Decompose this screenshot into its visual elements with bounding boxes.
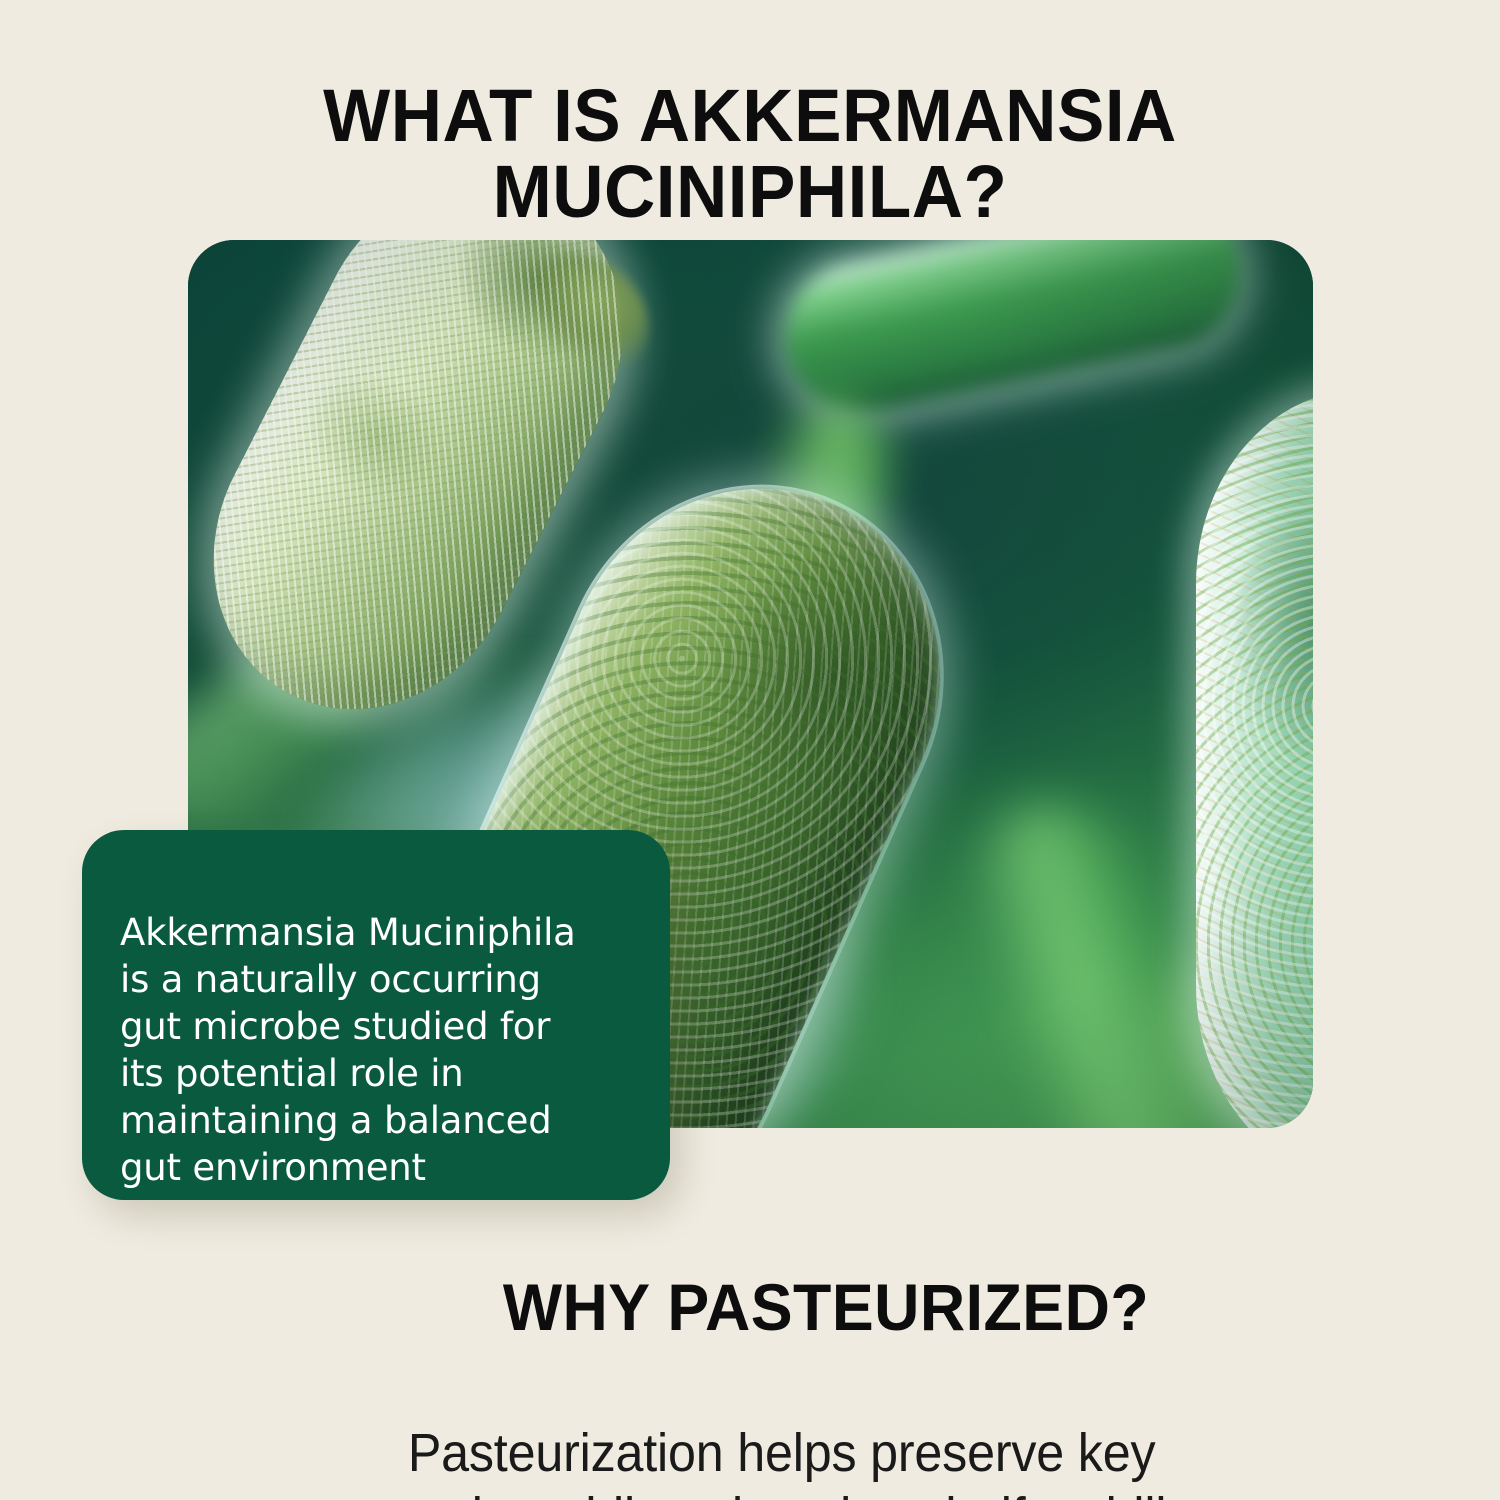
info-card-text: Akkermansia Muciniphila is a naturally o… xyxy=(120,909,640,1191)
why-pasteurized-body: Pasteurization helps preserve key protei… xyxy=(53,1357,1448,1500)
poster-canvas: WHAT IS AKKERMANSIA MUCINIPHILA? Akkerma… xyxy=(0,0,1500,1500)
page-title: WHAT IS AKKERMANSIA MUCINIPHILA? xyxy=(30,78,1470,230)
info-card: Akkermansia Muciniphila is a naturally o… xyxy=(82,830,670,1200)
why-pasteurized-heading-label: WHY PASTEURIZED? xyxy=(503,1272,1149,1342)
why-pasteurized-heading: WHY PASTEURIZED? xyxy=(38,1272,1463,1342)
why-pasteurized-body-label: Pasteurization helps preserve key protei… xyxy=(358,1421,1205,1500)
bacterium-right-edge xyxy=(1196,390,1313,1128)
